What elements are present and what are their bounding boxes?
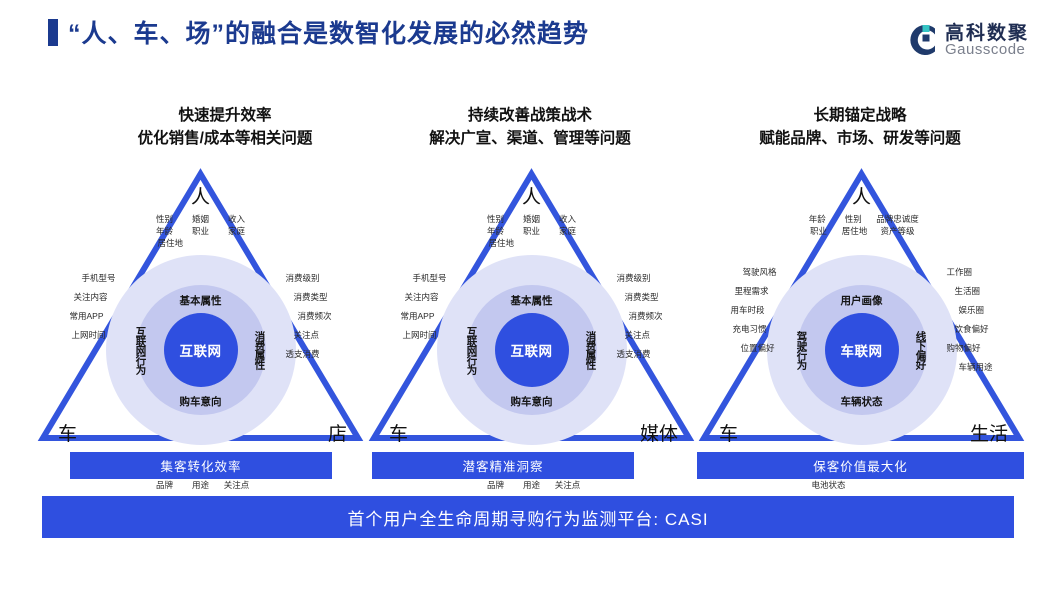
satellite-label: 手机型号 — [359, 269, 447, 288]
outcome-bar-1: 潜客精准洞察 — [372, 452, 634, 479]
satellite-label: 电池状态 — [812, 479, 846, 491]
corner-left-label-1: 车 — [389, 419, 408, 446]
platform-banner: 首个用户全生命周期寻购行为监测平台: CASI — [42, 496, 1014, 538]
satellite-label: 品牌 — [152, 479, 178, 491]
logo-text-en: Gausscode — [945, 41, 1025, 58]
core-label-2: 车联网 — [841, 340, 883, 360]
column-header-0: 快速提升效率 优化销售/成本等相关问题 — [55, 104, 395, 150]
ring-label-left-1: 互联网行为 — [465, 326, 480, 374]
satellite-label: 上网时间 — [28, 326, 106, 345]
core-label-1: 互联网 — [511, 340, 553, 360]
satellite-label: 饮食偏好 — [955, 320, 1039, 339]
page-title: “人、车、场”的融合是数智化发展的必然趋势 — [68, 14, 589, 50]
outcome-bar-2: 保客价值最大化 — [697, 452, 1024, 479]
satellite-label: 常用APP — [28, 307, 104, 326]
title-bullet-icon — [48, 19, 58, 46]
satellite-label: 娱乐圈 — [959, 301, 1039, 320]
satellite-label: 车辆用途 — [959, 358, 1039, 377]
column-subline-0: 优化销售/成本等相关问题 — [55, 127, 395, 150]
ring-label-right-1: 消费属性 — [584, 331, 599, 369]
satellite-label: 关注内容 — [359, 288, 439, 307]
column-header-1: 持续改善战策战术 解决广宣、渠道、管理等问题 — [360, 104, 700, 150]
apex-label-0: 人 — [191, 182, 210, 209]
satellite-label: 里程需求 — [689, 282, 769, 301]
corner-left-label-2: 车 — [719, 419, 738, 446]
satellite-label: 购物偏好 — [947, 339, 1039, 358]
ring-label-right-0: 消费属性 — [253, 331, 268, 369]
satellite-label: 年龄 — [804, 213, 830, 225]
satellite-label: 性别 — [483, 213, 509, 225]
outcome-bar-0: 集客转化效率 — [70, 452, 332, 479]
apex-label-2: 人 — [852, 182, 871, 209]
ring-label-bottom-1: 购车意向 — [511, 394, 553, 409]
satellite-group-left-0: 手机型号 关注内容 常用APP 上网时间 — [28, 269, 104, 345]
core-circle-0: 互联网 — [164, 313, 238, 387]
core-circle-2: 车联网 — [825, 313, 899, 387]
ring-label-right-2: 线下偏好 — [914, 331, 929, 369]
apex-label-1: 人 — [522, 182, 541, 209]
satellite-group-top-0: 性别婚姻收入 年龄职业家庭 居住地 — [147, 213, 255, 249]
column-headline-2: 长期锚定战略 — [690, 104, 1030, 127]
triangle-panel-2: 人 车 生活 与联网 车联网 车联网 用户画像 车辆状态 线下偏好 驾驶行为 年… — [697, 160, 1026, 450]
satellite-label: 充电习惯 — [689, 320, 767, 339]
satellite-label: 位置偏好 — [689, 339, 775, 358]
satellite-label: 婚姻 — [519, 213, 545, 225]
satellite-label: 常用APP — [359, 307, 435, 326]
page-header: “人、车、场”的融合是数智化发展的必然趋势 高科数聚 Gausscode — [0, 0, 1057, 62]
satellite-label: 关注点 — [555, 479, 581, 491]
satellite-label: 收入 — [224, 213, 250, 225]
ring-label-top-0: 基本属性 — [180, 293, 222, 308]
concentric-diagram-1: 与联网 车联网 互联网 基本属性 购车意向 消费属性 互联网行为 性别婚姻收入 … — [437, 255, 627, 445]
satellite-label: 品牌忠诚度 — [876, 213, 919, 225]
ring-label-bottom-0: 购车意向 — [180, 394, 222, 409]
core-label-0: 互联网 — [180, 340, 222, 360]
satellite-label: 上网时间 — [359, 326, 437, 345]
satellite-label: 关注点 — [224, 479, 250, 491]
satellite-group-top-1: 性别婚姻收入 年龄职业家庭 居住地 — [478, 213, 586, 249]
satellite-label: 家庭 — [555, 225, 581, 237]
ring-label-left-2: 驾驶行为 — [795, 331, 810, 369]
satellite-label: 居住地 — [841, 225, 867, 237]
concentric-diagram-2: 与联网 车联网 车联网 用户画像 车辆状态 线下偏好 驾驶行为 年龄性别品牌忠诚… — [767, 255, 957, 445]
satellite-label: 职业 — [188, 225, 214, 237]
satellite-label: 用途 — [519, 479, 545, 491]
satellite-label: 家庭 — [224, 225, 250, 237]
satellite-label: 关注内容 — [28, 288, 108, 307]
satellite-label: 资产等级 — [877, 225, 917, 237]
gausscode-c-mark-icon — [903, 22, 939, 58]
column-subline-1: 解决广宣、渠道、管理等问题 — [360, 127, 700, 150]
triangle-panel-0: 人 车 店 与联网 车联网 互联网 基本属性 购车意向 消费属性 互联网行为 性… — [36, 160, 365, 450]
ring-label-top-1: 基本属性 — [511, 293, 553, 308]
satellite-label: 用车时段 — [689, 301, 765, 320]
satellite-label: 驾驶风格 — [689, 263, 777, 282]
satellite-label: 收入 — [555, 213, 581, 225]
brand-logo: 高科数聚 Gausscode — [903, 18, 1043, 64]
column-subline-2: 赋能品牌、市场、研发等问题 — [690, 127, 1030, 150]
column-headline-0: 快速提升效率 — [55, 104, 395, 127]
triangle-panel-1: 人 车 媒体 与联网 车联网 互联网 基本属性 购车意向 消费属性 互联网行为 … — [367, 160, 696, 450]
satellite-group-right-2: 工作圈 生活圈 娱乐圈 饮食偏好 购物偏好 车辆用途 — [959, 263, 1039, 377]
corner-right-label-2: 生活 — [970, 419, 1008, 446]
satellite-label: 性别 — [840, 213, 866, 225]
corner-right-label-0: 店 — [328, 419, 347, 446]
satellite-label: 生活圈 — [955, 282, 1039, 301]
satellite-label: 品牌 — [483, 479, 509, 491]
satellite-label: 居住地 — [489, 237, 515, 249]
ring-label-top-2: 用户画像 — [841, 293, 883, 308]
concentric-diagram-0: 与联网 车联网 互联网 基本属性 购车意向 消费属性 互联网行为 性别婚姻收入 … — [106, 255, 296, 445]
satellite-label: 用途 — [188, 479, 214, 491]
satellite-label: 工作圈 — [947, 263, 1039, 282]
column-headline-1: 持续改善战策战术 — [360, 104, 700, 127]
satellite-label: 居住地 — [158, 237, 184, 249]
corner-right-label-1: 媒体 — [640, 419, 678, 446]
ring-label-left-0: 互联网行为 — [134, 326, 149, 374]
satellite-label: 透支消费 — [286, 345, 378, 364]
satellite-label: 职业 — [805, 225, 831, 237]
satellite-label: 手机型号 — [28, 269, 116, 288]
column-header-2: 长期锚定战略 赋能品牌、市场、研发等问题 — [690, 104, 1030, 150]
satellite-label: 年龄 — [152, 225, 178, 237]
satellite-label: 性别 — [152, 213, 178, 225]
ring-label-bottom-2: 车辆状态 — [841, 394, 883, 409]
satellite-group-top-2: 年龄性别品牌忠诚度 职业居住地资产等级 — [799, 213, 924, 237]
core-circle-1: 互联网 — [495, 313, 569, 387]
satellite-group-left-2: 驾驶风格 里程需求 用车时段 充电习惯 位置偏好 — [689, 263, 765, 358]
satellite-label: 婚姻 — [188, 213, 214, 225]
satellite-group-left-1: 手机型号 关注内容 常用APP 上网时间 — [359, 269, 435, 345]
satellite-label: 年龄 — [483, 225, 509, 237]
corner-left-label-0: 车 — [58, 419, 77, 446]
satellite-label: 职业 — [519, 225, 545, 237]
